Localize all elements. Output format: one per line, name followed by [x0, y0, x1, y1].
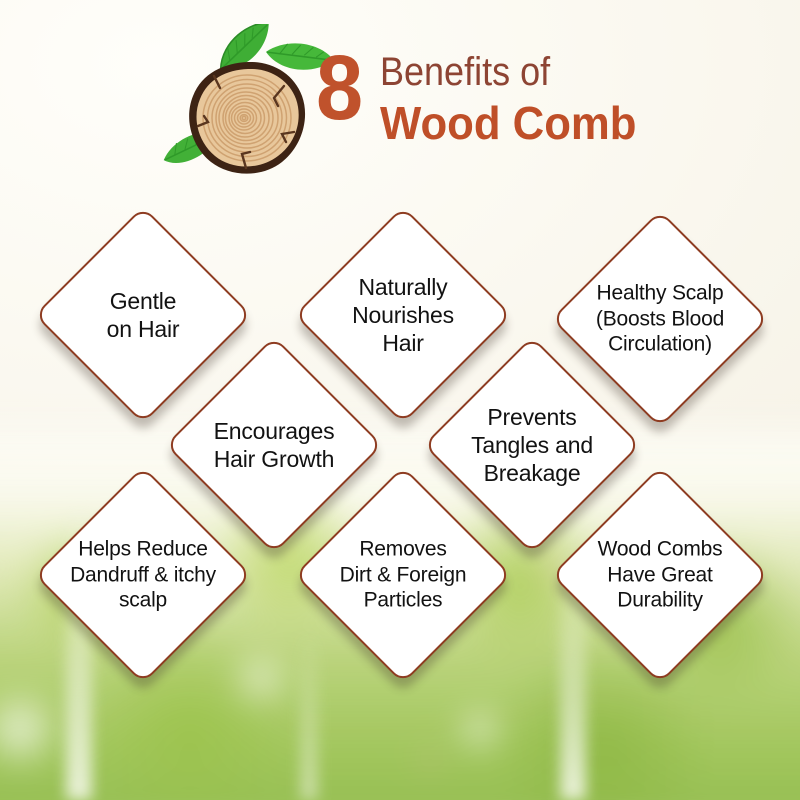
benefit-card-grid: Gentle on Hair Naturally Nourishes Hair … — [0, 0, 800, 800]
benefit-card-label: Removes Dirt & Foreign Particles — [300, 537, 506, 614]
benefit-card-label: Wood Combs Have Great Durability — [557, 537, 763, 614]
benefit-card-label: Gentle on Hair — [40, 287, 246, 343]
benefit-card-label: Naturally Nourishes Hair — [300, 273, 506, 357]
benefit-card-label: Healthy Scalp (Boosts Blood Circulation) — [557, 281, 763, 358]
benefit-card-label: Encourages Hair Growth — [171, 417, 377, 473]
infographic-poster: 8 Benefits of Wood Comb Gentle on Hair N… — [0, 0, 800, 800]
benefit-card-label: Prevents Tangles and Breakage — [429, 403, 635, 487]
benefit-card-label: Helps Reduce Dandruff & itchy scalp — [40, 537, 246, 614]
